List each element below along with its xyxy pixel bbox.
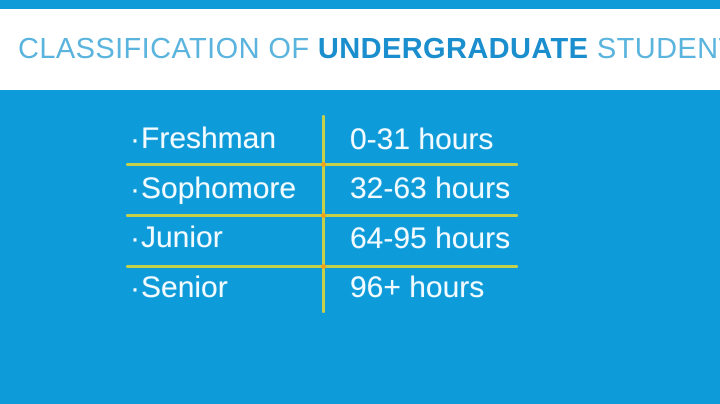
table-cell-label: ·Sophomore bbox=[126, 174, 322, 205]
divider-intersection-dot bbox=[321, 162, 326, 167]
classification-name: Junior bbox=[141, 221, 223, 254]
top-accent-strip bbox=[0, 0, 720, 9]
title-emphasis: UNDERGRADUATE bbox=[318, 33, 589, 65]
table-cell-label: ·Senior bbox=[126, 273, 322, 304]
divider-intersection-dot bbox=[321, 213, 326, 218]
bullet-icon: · bbox=[130, 272, 140, 305]
classification-name: Freshman bbox=[141, 122, 276, 155]
slide-canvas: CLASSIFICATION OF UNDERGRADUATE STUDENTS… bbox=[0, 0, 720, 404]
classification-table: ·Freshman 0-31 hours ·Sophomore 32-63 ho… bbox=[126, 115, 518, 313]
page-title: CLASSIFICATION OF UNDERGRADUATE STUDENTS bbox=[18, 35, 720, 64]
title-prefix: CLASSIFICATION OF bbox=[18, 33, 318, 65]
header-band: CLASSIFICATION OF UNDERGRADUATE STUDENTS bbox=[0, 9, 720, 90]
title-suffix: STUDENTS bbox=[588, 33, 720, 65]
table-cell-label: ·Freshman bbox=[126, 124, 322, 155]
content-panel: ·Freshman 0-31 hours ·Sophomore 32-63 ho… bbox=[0, 90, 720, 404]
table-cell-value: 64-95 hours bbox=[322, 224, 518, 254]
bullet-icon: · bbox=[130, 123, 140, 156]
table-cell-label: ·Junior bbox=[126, 223, 322, 254]
classification-name: Senior bbox=[141, 271, 228, 304]
classification-name: Sophomore bbox=[141, 172, 296, 205]
table-cell-value: 96+ hours bbox=[322, 273, 518, 303]
divider-intersection-dot bbox=[321, 264, 326, 269]
table-cell-value: 0-31 hours bbox=[322, 125, 518, 155]
bullet-icon: · bbox=[130, 222, 140, 255]
table-cell-value: 32-63 hours bbox=[322, 174, 518, 204]
bullet-icon: · bbox=[130, 173, 140, 206]
